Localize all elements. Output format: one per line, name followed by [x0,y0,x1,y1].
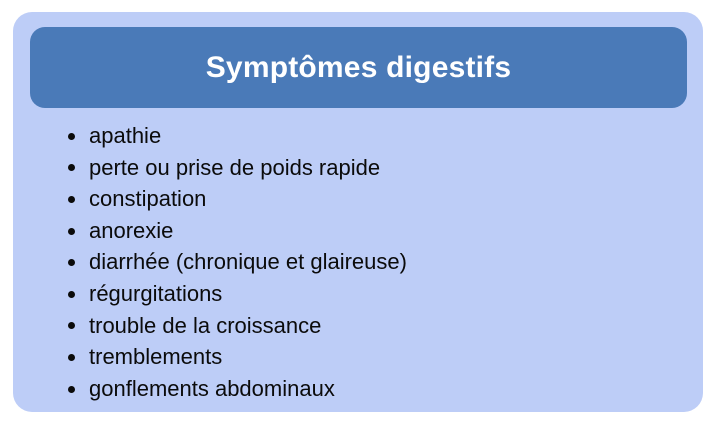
bullet-dot-icon [68,196,75,203]
list-item: régurgitations [57,278,677,310]
bullet-dot-icon [68,354,75,361]
list-item-label: apathie [89,123,161,148]
bullet-dot-icon [68,386,75,393]
list-item: apathie [57,120,677,152]
list-item: constipation [57,183,677,215]
list-item-label: gonflements abdominaux [89,376,335,401]
list-item: diarrhée (chronique et glaireuse) [57,246,677,278]
list-item: gonflements abdominaux [57,373,677,405]
slide-canvas: Symptômes digestifs apathie perte ou pri… [0,0,716,430]
list-item: trouble de la croissance [57,310,677,342]
symptoms-card: Symptômes digestifs apathie perte ou pri… [13,12,703,412]
list-item-label: constipation [89,186,206,211]
list-item-label: perte ou prise de poids rapide [89,155,380,180]
list-item: perte ou prise de poids rapide [57,152,677,184]
symptom-list: apathie perte ou prise de poids rapide c… [57,120,677,404]
list-item: anorexie [57,215,677,247]
list-item-label: régurgitations [89,281,222,306]
bullet-dot-icon [68,322,75,329]
bullet-dot-icon [68,164,75,171]
bullet-dot-icon [68,291,75,298]
list-item: tremblements [57,341,677,373]
list-item-label: trouble de la croissance [89,313,321,338]
page-title: Symptômes digestifs [206,53,512,83]
bullet-dot-icon [68,228,75,235]
list-item-label: tremblements [89,344,222,369]
card-header-bar: Symptômes digestifs [30,27,687,108]
bullet-dot-icon [68,259,75,266]
list-item-label: anorexie [89,218,173,243]
list-item-label: diarrhée (chronique et glaireuse) [89,249,407,274]
bullet-dot-icon [68,133,75,140]
